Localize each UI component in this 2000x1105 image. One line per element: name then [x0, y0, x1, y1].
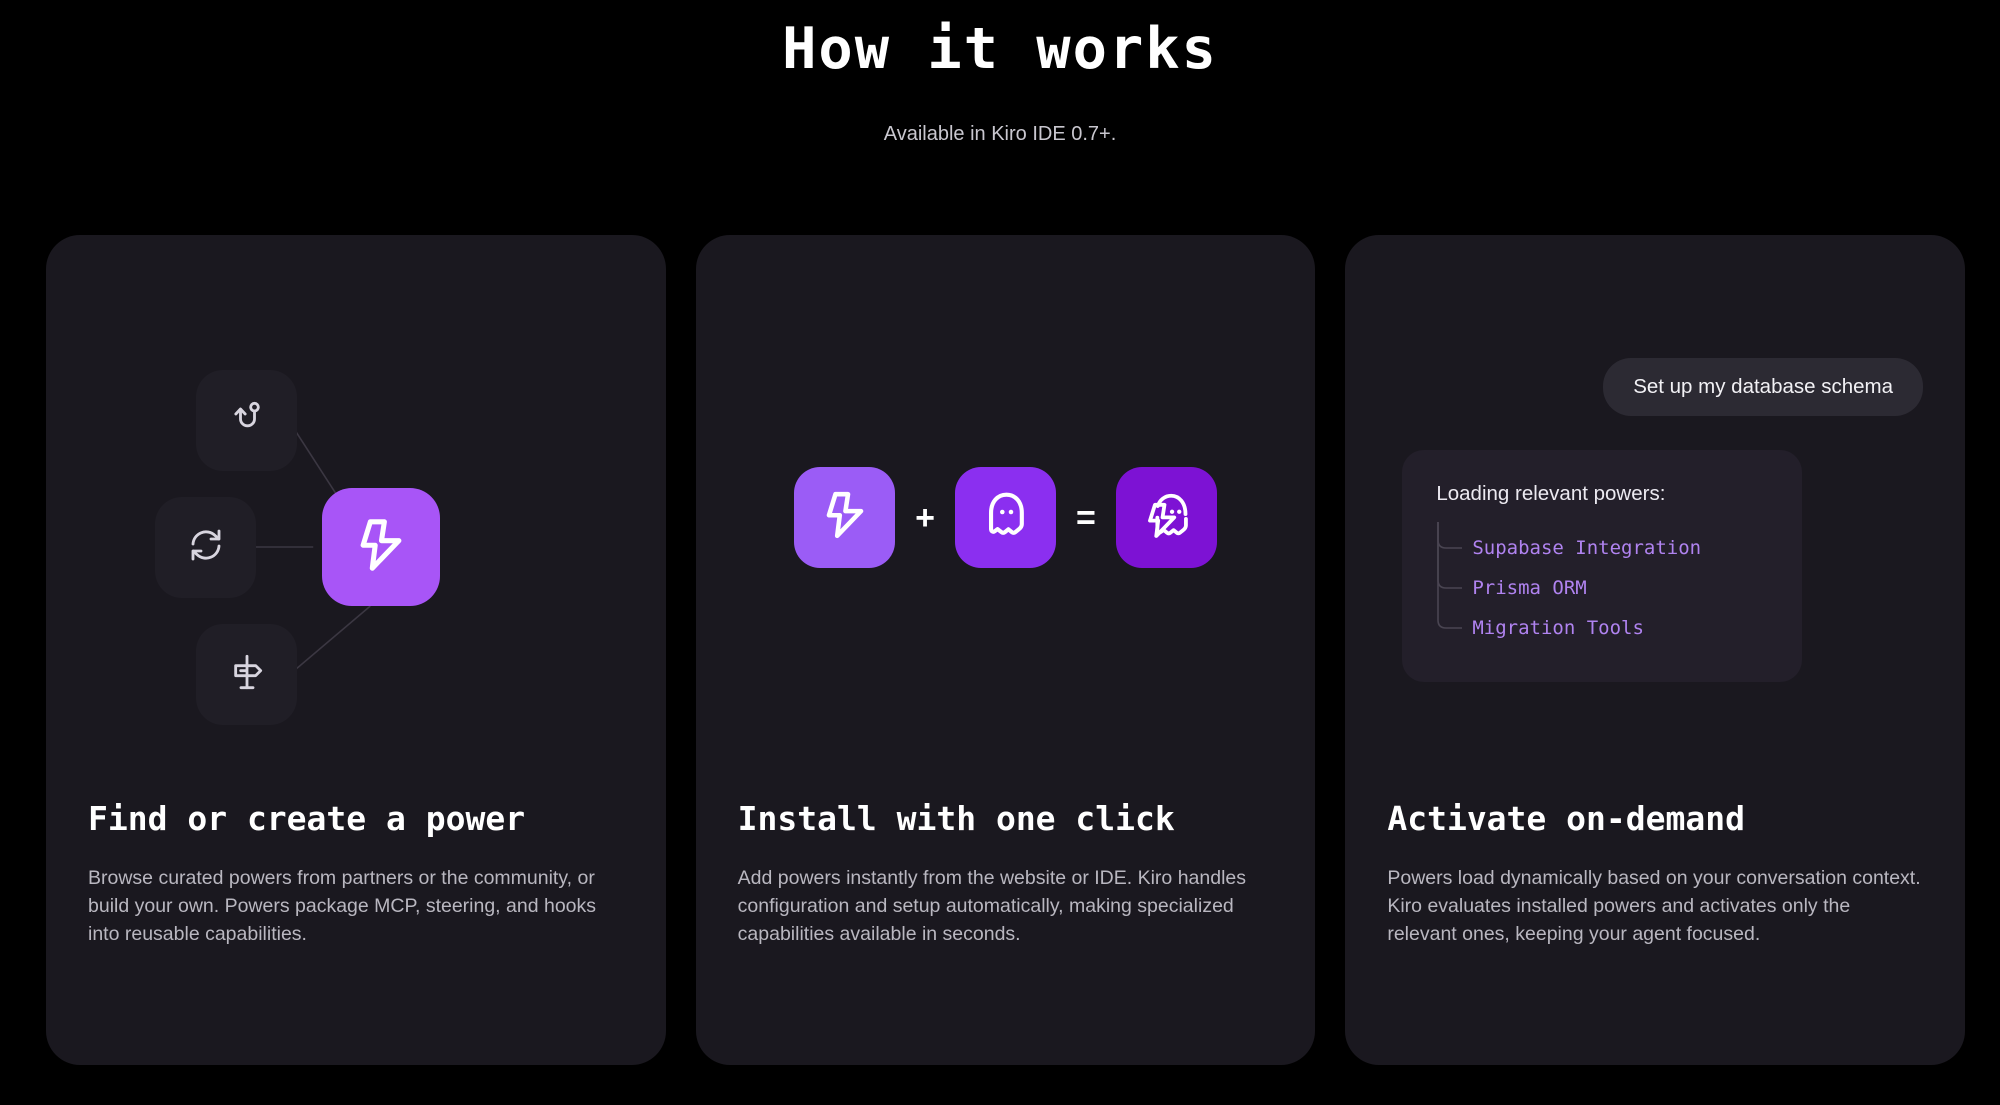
node-tile-hook[interactable]	[196, 370, 297, 471]
chat-user-message: Set up my database schema	[1603, 358, 1923, 416]
card-text-block: Find or create a power Browse curated po…	[46, 800, 666, 949]
equation-visual: + =	[696, 235, 1316, 800]
equation-operator-equals: =	[1076, 501, 1096, 535]
equation-tile-ghost[interactable]	[955, 467, 1056, 568]
page-title: How it works	[0, 18, 2000, 81]
equation-tile-bolt[interactable]	[794, 467, 895, 568]
node-graph-visual	[46, 235, 666, 800]
power-list-item[interactable]: Prisma ORM	[1472, 568, 1772, 608]
signpost-icon	[227, 652, 267, 697]
ghost-bolt-icon	[1140, 489, 1192, 546]
equation-operator-plus: +	[915, 501, 935, 535]
card-install-one-click[interactable]: + =	[696, 235, 1316, 1065]
card-text-block: Install with one click Add powers instan…	[696, 800, 1316, 949]
equation-tile-ghost-bolt[interactable]	[1116, 467, 1217, 568]
power-list-item[interactable]: Migration Tools	[1472, 608, 1772, 648]
loading-powers-label: Loading relevant powers:	[1436, 482, 1772, 506]
sync-icon	[186, 525, 226, 570]
tree-branch-lines	[1436, 522, 1472, 642]
card-title: Activate on-demand	[1387, 800, 1923, 838]
ghost-icon	[980, 489, 1032, 546]
card-grid: Find or create a power Browse curated po…	[46, 235, 1965, 1065]
chat-mockup: Set up my database schema Loading releva…	[1345, 235, 1965, 800]
card-find-or-create[interactable]: Find or create a power Browse curated po…	[46, 235, 666, 1065]
card-body: Powers load dynamically based on your co…	[1387, 864, 1923, 949]
hook-icon	[227, 398, 267, 443]
card-activate-on-demand[interactable]: Set up my database schema Loading releva…	[1345, 235, 1965, 1065]
card-body: Add powers instantly from the website or…	[738, 864, 1274, 949]
chat-agent-message: Loading relevant powers: Supabase Integr…	[1402, 450, 1802, 682]
chat-visual: Set up my database schema Loading releva…	[1345, 235, 1965, 800]
hub-tile-power[interactable]	[322, 488, 440, 606]
power-equation: + =	[696, 235, 1316, 800]
power-list-item[interactable]: Supabase Integration	[1472, 528, 1772, 568]
card-title: Install with one click	[738, 800, 1274, 838]
how-it-works-section: How it works Available in Kiro IDE 0.7+.	[0, 0, 2000, 1105]
page-subtitle: Available in Kiro IDE 0.7+.	[0, 123, 2000, 146]
node-tile-signpost[interactable]	[196, 624, 297, 725]
section-header: How it works Available in Kiro IDE 0.7+.	[0, 0, 2000, 146]
lightning-bolt-icon	[352, 516, 410, 579]
node-tile-sync[interactable]	[155, 497, 256, 598]
power-list: Supabase Integration Prisma ORM Migratio…	[1436, 528, 1772, 648]
card-text-block: Activate on-demand Powers load dynamical…	[1345, 800, 1965, 949]
card-title: Find or create a power	[88, 800, 624, 838]
lightning-bolt-icon	[819, 489, 871, 546]
card-body: Browse curated powers from partners or t…	[88, 864, 624, 949]
node-graph	[46, 235, 666, 800]
